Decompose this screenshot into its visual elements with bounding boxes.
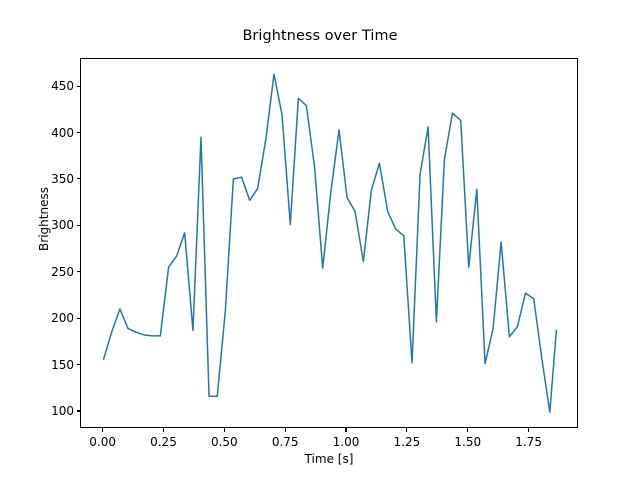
y-tick-label: 300 bbox=[36, 218, 74, 232]
y-tick-label: 150 bbox=[36, 358, 74, 372]
y-tick-label: 250 bbox=[36, 265, 74, 279]
x-tick-label: 0.00 bbox=[89, 435, 116, 449]
x-tick-label: 1.75 bbox=[515, 435, 542, 449]
line-plot bbox=[81, 59, 579, 429]
y-tick-label: 100 bbox=[36, 404, 74, 418]
x-tick-label: 0.75 bbox=[272, 435, 299, 449]
y-tick-label: 400 bbox=[36, 126, 74, 140]
chart-title: Brightness over Time bbox=[0, 28, 640, 44]
y-tick-label: 200 bbox=[36, 311, 74, 325]
x-tick-label: 1.25 bbox=[394, 435, 421, 449]
x-tick-label: 0.25 bbox=[150, 435, 177, 449]
y-tick-label: 350 bbox=[36, 172, 74, 186]
y-tick-label: 450 bbox=[36, 79, 74, 93]
x-tick-label: 1.50 bbox=[454, 435, 481, 449]
x-axis-label: Time [s] bbox=[80, 452, 578, 466]
x-tick-label: 0.50 bbox=[211, 435, 238, 449]
plot-area bbox=[80, 58, 578, 428]
matplotlib-figure: Brightness over Time Brightness Time [s]… bbox=[0, 0, 640, 480]
x-tick-label: 1.00 bbox=[333, 435, 360, 449]
brightness-series-line bbox=[104, 74, 557, 412]
